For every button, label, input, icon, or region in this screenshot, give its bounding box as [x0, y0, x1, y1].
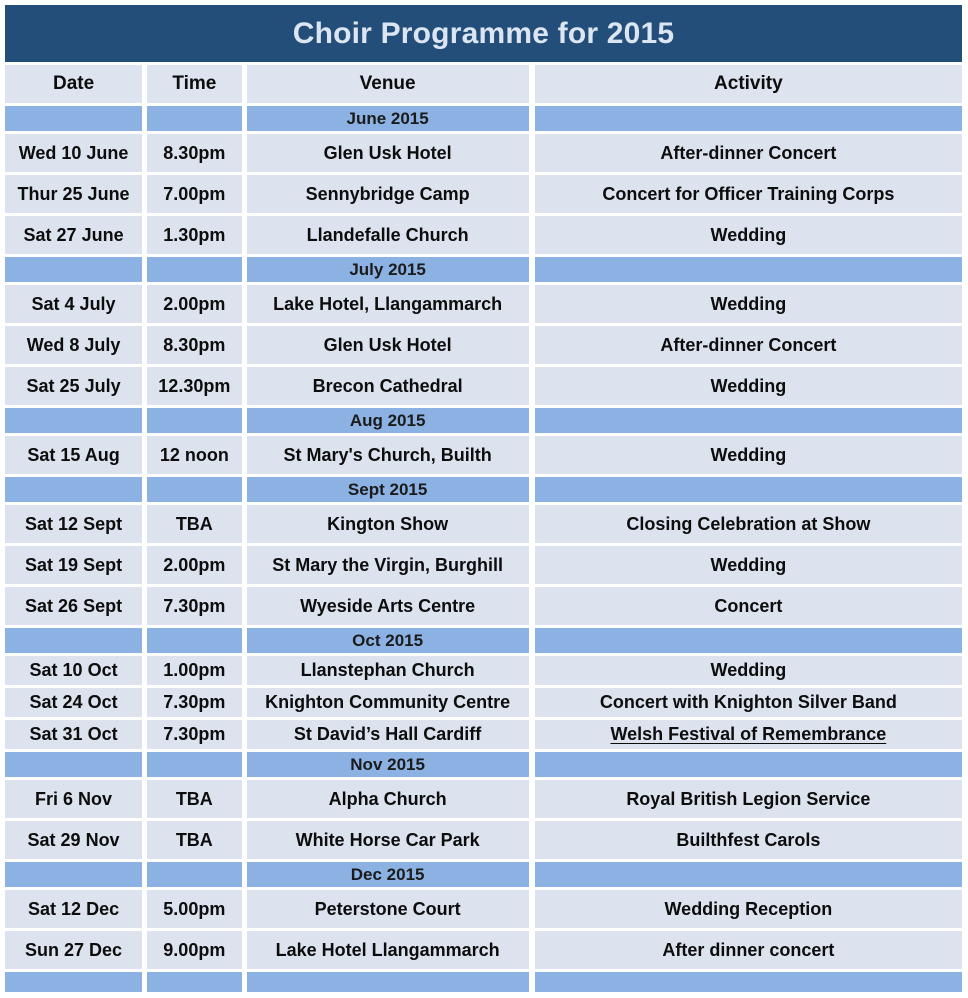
month-row-time-cell — [147, 477, 241, 502]
month-row-date-cell — [5, 408, 142, 433]
month-row-time-cell — [147, 752, 241, 777]
stub-cell-date — [5, 972, 142, 992]
cell-venue: Knighton Community Centre — [247, 688, 529, 717]
cell-time: TBA — [147, 505, 241, 543]
cell-venue: Brecon Cathedral — [247, 367, 529, 405]
month-header-row: July 2015 — [5, 257, 962, 282]
cell-date: Sat 4 July — [5, 285, 142, 323]
cell-time: 2.00pm — [147, 546, 241, 584]
cell-date: Sat 31 Oct — [5, 720, 142, 749]
table-row: Sat 27 June1.30pmLlandefalle ChurchWeddi… — [5, 216, 962, 254]
month-label: July 2015 — [247, 257, 529, 282]
stub-cell-venue — [247, 972, 529, 992]
month-row-activity-cell — [535, 477, 962, 502]
month-label: Aug 2015 — [247, 408, 529, 433]
cell-time: 8.30pm — [147, 134, 241, 172]
cell-venue: Peterstone Court — [247, 890, 529, 928]
cell-date: Sat 27 June — [5, 216, 142, 254]
column-header-date: Date — [5, 65, 142, 103]
table-row: Sat 4 July2.00pmLake Hotel, Llangammarch… — [5, 285, 962, 323]
month-header-row: Sept 2015 — [5, 477, 962, 502]
table-row: Sat 31 Oct7.30pmSt David’s Hall CardiffW… — [5, 720, 962, 749]
cell-activity: Wedding — [535, 436, 962, 474]
month-row-date-cell — [5, 752, 142, 777]
month-label: Sept 2015 — [247, 477, 529, 502]
cell-time: 7.30pm — [147, 720, 241, 749]
cell-activity: Concert with Knighton Silver Band — [535, 688, 962, 717]
month-row-time-cell — [147, 862, 241, 887]
cell-date: Fri 6 Nov — [5, 780, 142, 818]
page-title: Choir Programme for 2015 — [5, 5, 962, 62]
table-row: Fri 6 NovTBAAlpha ChurchRoyal British Le… — [5, 780, 962, 818]
cell-venue: Lake Hotel Llangammarch — [247, 931, 529, 969]
cell-venue: St Mary's Church, Builth — [247, 436, 529, 474]
cell-venue: Llanstephan Church — [247, 656, 529, 685]
stub-cell-activity — [535, 972, 962, 992]
cell-date: Sun 27 Dec — [5, 931, 142, 969]
month-header-row: June 2015 — [5, 106, 962, 131]
cell-activity: Concert — [535, 587, 962, 625]
cell-activity: Wedding — [535, 546, 962, 584]
month-row-activity-cell — [535, 106, 962, 131]
table-row: Sat 29 NovTBAWhite Horse Car ParkBuilthf… — [5, 821, 962, 859]
table-row: Sat 12 Dec5.00pmPeterstone CourtWedding … — [5, 890, 962, 928]
cell-activity: Wedding — [535, 216, 962, 254]
cell-activity: Concert for Officer Training Corps — [535, 175, 962, 213]
cell-date: Sat 10 Oct — [5, 656, 142, 685]
cell-activity: After dinner concert — [535, 931, 962, 969]
cell-time: 7.30pm — [147, 587, 241, 625]
cell-venue: Sennybridge Camp — [247, 175, 529, 213]
cell-venue: Wyeside Arts Centre — [247, 587, 529, 625]
table-row: Wed 8 July8.30pmGlen Usk HotelAfter-dinn… — [5, 326, 962, 364]
table-bottom-stub-row — [5, 972, 962, 992]
table-row: Thur 25 June7.00pmSennybridge CampConcer… — [5, 175, 962, 213]
cell-venue: Llandefalle Church — [247, 216, 529, 254]
cell-time: 12 noon — [147, 436, 241, 474]
cell-date: Sat 12 Dec — [5, 890, 142, 928]
cell-time: TBA — [147, 780, 241, 818]
cell-venue: Lake Hotel, Llangammarch — [247, 285, 529, 323]
column-header-time: Time — [147, 65, 241, 103]
table-row: Sat 26 Sept7.30pmWyeside Arts CentreConc… — [5, 587, 962, 625]
cell-activity: Closing Celebration at Show — [535, 505, 962, 543]
cell-date: Sat 25 July — [5, 367, 142, 405]
table-body: June 2015Wed 10 June8.30pmGlen Usk Hotel… — [5, 106, 962, 969]
table-header-row: Date Time Venue Activity — [5, 65, 962, 103]
cell-time: 2.00pm — [147, 285, 241, 323]
cell-time: TBA — [147, 821, 241, 859]
month-header-row: Oct 2015 — [5, 628, 962, 653]
table-row: Sat 24 Oct7.30pmKnighton Community Centr… — [5, 688, 962, 717]
month-row-time-cell — [147, 257, 241, 282]
cell-venue: Kington Show — [247, 505, 529, 543]
month-header-row: Nov 2015 — [5, 752, 962, 777]
month-header-row: Aug 2015 — [5, 408, 962, 433]
cell-activity: Wedding — [535, 285, 962, 323]
cell-time: 8.30pm — [147, 326, 241, 364]
table-row: Sat 12 SeptTBAKington ShowClosing Celebr… — [5, 505, 962, 543]
month-row-time-cell — [147, 408, 241, 433]
month-row-activity-cell — [535, 752, 962, 777]
month-label: Oct 2015 — [247, 628, 529, 653]
month-row-activity-cell — [535, 257, 962, 282]
month-row-activity-cell — [535, 408, 962, 433]
cell-activity: Wedding Reception — [535, 890, 962, 928]
cell-activity: Welsh Festival of Remembrance — [535, 720, 962, 749]
month-label: June 2015 — [247, 106, 529, 131]
month-row-date-cell — [5, 862, 142, 887]
cell-time: 5.00pm — [147, 890, 241, 928]
month-row-time-cell — [147, 628, 241, 653]
table-row: Sun 27 Dec9.00pmLake Hotel LlangammarchA… — [5, 931, 962, 969]
choir-programme-sheet: Choir Programme for 2015 Date Time Venue… — [0, 0, 968, 998]
cell-date: Thur 25 June — [5, 175, 142, 213]
cell-time: 7.00pm — [147, 175, 241, 213]
cell-time: 12.30pm — [147, 367, 241, 405]
month-row-date-cell — [5, 628, 142, 653]
cell-date: Sat 29 Nov — [5, 821, 142, 859]
table-row: Sat 15 Aug12 noonSt Mary's Church, Built… — [5, 436, 962, 474]
month-row-activity-cell — [535, 628, 962, 653]
month-label: Dec 2015 — [247, 862, 529, 887]
cell-activity: Royal British Legion Service — [535, 780, 962, 818]
cell-time: 9.00pm — [147, 931, 241, 969]
cell-venue: St David’s Hall Cardiff — [247, 720, 529, 749]
column-header-venue: Venue — [247, 65, 529, 103]
cell-date: Sat 26 Sept — [5, 587, 142, 625]
cell-venue: Glen Usk Hotel — [247, 134, 529, 172]
cell-activity: After-dinner Concert — [535, 134, 962, 172]
month-row-date-cell — [5, 106, 142, 131]
table-row: Sat 25 July12.30pmBrecon CathedralWeddin… — [5, 367, 962, 405]
table-row: Wed 10 June8.30pmGlen Usk HotelAfter-din… — [5, 134, 962, 172]
month-row-date-cell — [5, 257, 142, 282]
cell-time: 1.30pm — [147, 216, 241, 254]
cell-date: Sat 12 Sept — [5, 505, 142, 543]
month-label: Nov 2015 — [247, 752, 529, 777]
table-row: Sat 10 Oct1.00pmLlanstephan ChurchWeddin… — [5, 656, 962, 685]
cell-activity: Wedding — [535, 656, 962, 685]
month-header-row: Dec 2015 — [5, 862, 962, 887]
cell-date: Sat 15 Aug — [5, 436, 142, 474]
cell-time: 7.30pm — [147, 688, 241, 717]
month-row-time-cell — [147, 106, 241, 131]
column-header-activity: Activity — [535, 65, 962, 103]
table-row: Sat 19 Sept2.00pmSt Mary the Virgin, Bur… — [5, 546, 962, 584]
cell-venue: St Mary the Virgin, Burghill — [247, 546, 529, 584]
cell-time: 1.00pm — [147, 656, 241, 685]
cell-date: Sat 19 Sept — [5, 546, 142, 584]
cell-date: Wed 10 June — [5, 134, 142, 172]
cell-date: Sat 24 Oct — [5, 688, 142, 717]
cell-venue: Glen Usk Hotel — [247, 326, 529, 364]
month-row-activity-cell — [535, 862, 962, 887]
cell-activity: Builthfest Carols — [535, 821, 962, 859]
cell-activity: Wedding — [535, 367, 962, 405]
cell-venue: Alpha Church — [247, 780, 529, 818]
month-row-date-cell — [5, 477, 142, 502]
stub-cell-time — [147, 972, 241, 992]
cell-activity: After-dinner Concert — [535, 326, 962, 364]
cell-date: Wed 8 July — [5, 326, 142, 364]
cell-venue: White Horse Car Park — [247, 821, 529, 859]
